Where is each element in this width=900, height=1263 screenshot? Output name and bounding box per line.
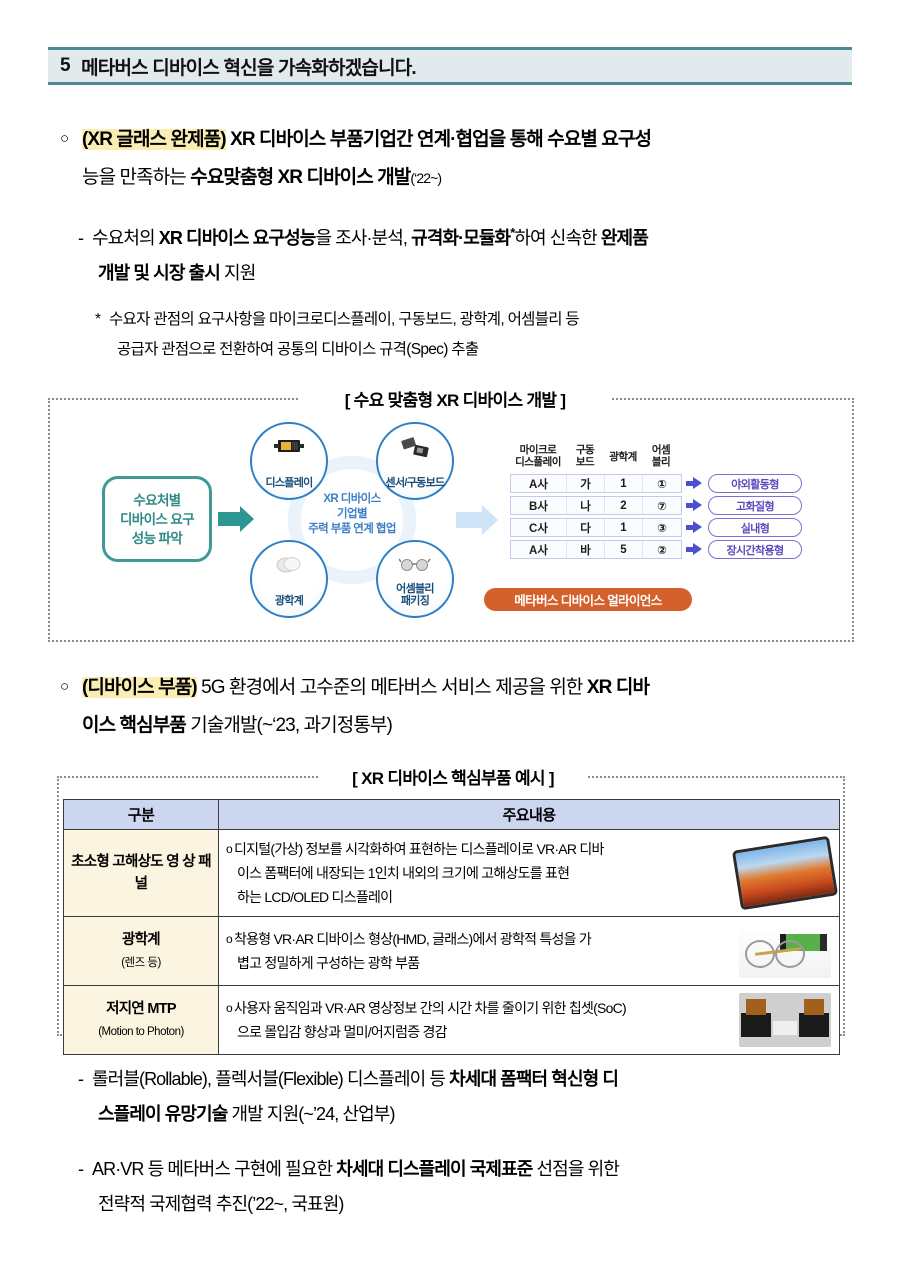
bullet-xr-glass-line1: ○(XR 글래스 완제품) XR 디바이스 부품기업간 연계·협업을 통해 수요… [60,120,860,159]
matrix-arrow-head [693,543,702,555]
matrix-header-2: 광학계 [604,451,642,463]
content-line-1: 디지털(가상) 정보를 시각화하여 표현하는 디스플레이로 VR·AR 디바 [234,841,604,857]
footnote-marker: * [95,305,109,335]
dash-rollable-a: 롤러블(Rollable), 플렉서블(Flexible) 디스플레이 등 [92,1069,449,1089]
alliance-banner: 메타버스 디바이스 얼라이언스 [484,588,692,611]
table-cell-category-sub: (렌즈 등) [70,952,212,974]
matrix-row-0: A사 가 1 ① [510,474,682,493]
matrix-cell: 2 [605,497,643,514]
content-marker: o [226,932,232,946]
table-cell-category: 초소형 고해상도 영 상 패널 [64,830,219,917]
dash-rollable-line2: 스플레이 유망기술 개발 지원(~’24, 산업부) [78,1097,868,1132]
footnote-block: *수요자 관점의 요구사항을 마이크로디스플레이, 구동보드, 광학계, 어셈블… [95,305,865,365]
content-line-2: 이스 폼팩터에 내장되는 1인치 내외의 크기에 고해상도를 표현 [237,865,569,881]
bullet-marker-circle: ○ [60,668,82,706]
content-line-3: 하는 LCD/OLED 디스플레이 [237,889,392,905]
sensor-board-icon [378,437,452,464]
matrix-cell: ⑦ [643,497,681,514]
dash-demand-bold2: 규격화·모듈화 [411,228,510,248]
bullet-xr-glass-label: (XR 글래스 완제품) [82,129,226,150]
figure1-node-display: 디스플레이 [250,422,328,500]
bullet-device-parts-text1: 5G 환경에서 고수준의 메타버스 서비스 제공을 위한 [197,677,587,698]
table-row: 광학계 (렌즈 등) o착용형 VR·AR 디바이스 형상(HMD, 글래스)에… [64,917,840,986]
bullet-device-parts-line2-bold: 이스 핵심부품 [82,715,186,736]
figure1-teal-arrow-head [240,506,254,532]
bullet-device-parts-line1: ○(디바이스 부품) 5G 환경에서 고수준의 메타버스 서비스 제공을 위한 … [60,668,860,707]
bullet-xr-glass-line2-a: 능을 만족하는 [82,167,190,188]
figure1-node-sensor-label: 센서/구동보드 [386,477,445,489]
dash-marker: - [78,1152,92,1187]
table-cell-content: o디지털(가상) 정보를 시각화하여 표현하는 디스플레이로 VR·AR 디바 … [219,830,840,917]
lens-icon [252,555,326,580]
dash-rollable-block: -롤러블(Rollable), 플렉서블(Flexible) 디스플레이 등 차… [78,1062,868,1132]
matrix-cell: C사 [511,519,567,536]
content-line-1: 사용자 움직임과 VR·AR 영상정보 간의 시간 차를 줄이기 위한 칩셋(S… [234,1000,626,1016]
matrix-header-0-l1: 마이크로 [520,444,557,456]
matrix-arrow-head [693,521,702,533]
table-row: 초소형 고해상도 영 상 패널 o디지털(가상) 정보를 시각화하여 표현하는 … [64,830,840,917]
footnote-line2: 공급자 관점으로 전환하여 공통의 디바이스 규격(Spec) 추출 [95,335,865,365]
matrix-header-3: 어셈 블리 [642,444,680,468]
figure1-node-assembly-l1: 어셈블리 [396,583,434,595]
figure1-input-line3: 성능 파악 [132,531,182,546]
footnote-line1: *수요자 관점의 요구사항을 마이크로디스플레이, 구동보드, 광학계, 어셈블… [95,305,865,335]
figure1-center-line2: 기업별 [337,508,367,520]
figure1-node-display-label: 디스플레이 [265,477,312,489]
matrix-header-0-l2: 디스플레이 [515,456,561,468]
section-title: 메타버스 디바이스 혁신을 가속화하겠습니다. [81,53,416,80]
matrix-header-2-l1: 광학계 [609,451,636,463]
table-col-header-content: 주요내용 [219,800,840,830]
table-cell-category: 광학계 (렌즈 등) [64,917,219,986]
bullet-xr-glass-line2-year: (‘22~) [410,170,441,186]
matrix-cell: ③ [643,519,681,536]
dash-standard-line1: -AR·VR 등 메타버스 구현에 필요한 차세대 디스플레이 국제표준 선점을… [78,1152,868,1187]
result-pill-indoor: 실내형 [708,518,802,537]
dash-rollable-bold: 차세대 폼팩터 혁신형 디 [449,1069,618,1089]
result-pill-highquality: 고화질형 [708,496,802,515]
core-components-table: 구분 주요내용 초소형 고해상도 영 상 패널 o디지털(가상) 정보를 시각화… [63,799,840,1055]
matrix-cell: B사 [511,497,567,514]
matrix-row-2: C사 다 1 ③ [510,518,682,537]
figure1-flow-arrow-head [482,505,498,535]
table-cell-category: 저지연 MTP (Motion to Photon) [64,986,219,1055]
dash-demand-line2-c: 지원 [220,263,255,283]
bullet-xr-glass-line2: 능을 만족하는 수요맞춤형 XR 디바이스 개발(‘22~) [60,159,860,197]
bullet-xr-glass-text1: XR 디바이스 부품기업간 연계·협업을 통해 수요별 요구성 [226,129,651,150]
matrix-arrow-stem [686,503,693,508]
figure1-node-assembly: 어셈블리 패키징 [376,540,454,618]
figure1-node-optics-label: 광학계 [275,595,303,607]
figure1-flow-arrow-body [456,512,482,528]
matrix-cell: 1 [605,519,643,536]
figure1-frame: 수요처별 디바이스 요구 성능 파악 XR 디바이스 기업별 주력 부품 연계 … [48,398,854,642]
matrix-header-3-l1: 어셈 [652,444,670,456]
table-cell-content: o사용자 움직임과 VR·AR 영상정보 간의 시간 차를 줄이기 위한 칩셋(… [219,986,840,1055]
matrix-cell: 다 [567,519,605,536]
result-pill-longwear: 장시간착용형 [708,540,802,559]
matrix-arrow-head [693,477,702,489]
matrix-cell: ① [643,475,681,492]
content-marker: o [226,842,232,856]
dash-rollable-line2-c: 개발 지원(~’24, 산업부) [227,1104,394,1124]
dash-standard-block: -AR·VR 등 메타버스 구현에 필요한 차세대 디스플레이 국제표준 선점을… [78,1152,868,1222]
figure1-center-text: XR 디바이스 기업별 주력 부품 연계 협업 [288,492,416,537]
dash-rollable-line1: -롤러블(Rollable), 플렉서블(Flexible) 디스플레이 등 차… [78,1062,868,1097]
matrix-cell: A사 [511,475,567,492]
matrix-cell: ② [643,541,681,558]
dash-demand-a: 수요처의 [92,228,159,248]
dash-standard-a: AR·VR 등 메타버스 구현에 필요한 [92,1159,336,1179]
bullet-device-parts-bold1: XR 디바 [587,677,649,698]
bullet-device-parts-line2-c: 기술개발(~‘23, 과기정통부) [186,715,392,736]
footnote-text1: 수요자 관점의 요구사항을 마이크로디스플레이, 구동보드, 광학계, 어셈블리… [109,311,579,328]
figure1-caption: [ 수요 맞춤형 XR 디바이스 개발 ] [300,386,610,411]
bullet-device-parts-line2: 이스 핵심부품 기술개발(~‘23, 과기정통부) [60,707,860,745]
figure1-node-assembly-label: 어셈블리 패키징 [396,583,434,607]
bullet-device-parts-label: (디바이스 부품) [82,677,197,698]
matrix-arrow-stem [686,547,693,552]
matrix-header-1: 구동 보드 [566,444,604,468]
dash-demand-line2-bold: 개발 및 시장 출시 [98,263,220,283]
dash-marker: - [78,1062,92,1097]
content-line-1: 착용형 VR·AR 디바이스 형상(HMD, 글래스)에서 광학적 특성을 가 [234,931,591,947]
table-header-row: 구분 주요내용 [64,800,840,830]
figure1-node-optics: 광학계 [250,540,328,618]
matrix-header-0: 마이크로 디스플레이 [510,444,566,468]
dash-demand-line1: -수요처의 XR 디바이스 요구성능을 조사·분석, 규격화·모듈화*하여 신속… [78,215,868,256]
content-line-2: 으로 몰입감 향상과 멀미/어지럼증 경감 [237,1024,447,1040]
dash-demand-c: 하여 신속한 [514,228,601,248]
dash-standard-bold: 차세대 디스플레이 국제표준 [336,1159,532,1179]
ar-glasses-thumbnail [739,924,831,978]
dash-demand-bold1: XR 디바이스 요구성능 [159,228,316,248]
table-col-header-category: 구분 [64,800,219,830]
document-page: 5 메타버스 디바이스 혁신을 가속화하겠습니다. ○(XR 글래스 완제품) … [0,0,900,1263]
matrix-cell: 5 [605,541,643,558]
dash-demand-bold3: 완제품 [601,228,648,248]
dash-demand-b: 을 조사·분석, [315,228,411,248]
micro-display-thumbnail [735,839,834,907]
table-row: 저지연 MTP (Motion to Photon) o사용자 움직임과 VR·… [64,986,840,1055]
dash-standard-line2: 전략적 국제협력 추진(’22~, 국표원) [78,1187,868,1222]
dash-rollable-line2-bold: 스플레이 유망기술 [98,1104,227,1124]
matrix-arrow-head [693,499,702,511]
section-header: 5 메타버스 디바이스 혁신을 가속화하겠습니다. [48,47,852,85]
figure1-input-line1: 수요처별 [133,493,180,508]
figure1-teal-arrow-body [218,512,240,526]
table-cell-category-main: 광학계 [122,932,160,948]
matrix-row-1: B사 나 2 ⑦ [510,496,682,515]
matrix-header-1-l2: 보드 [576,456,594,468]
dash-standard-c: 선점을 위한 [532,1159,619,1179]
soc-chip-thumbnail [739,993,831,1047]
matrix-header-3-l2: 블리 [652,456,670,468]
table-cell-category-main: 저지연 MTP [106,1001,176,1017]
glasses-icon [378,555,452,577]
dash-demand-line2: 개발 및 시장 출시 지원 [78,256,868,291]
figure1-input-line2: 디바이스 요구 [120,512,194,527]
figure1-input-box: 수요처별 디바이스 요구 성능 파악 [102,476,212,562]
figure1-node-assembly-l2: 패키징 [401,595,429,607]
dash-marker: - [78,221,92,256]
matrix-arrow-stem [686,481,693,486]
display-chip-icon [252,437,326,460]
bullet-xr-glass-line2-bold: 수요맞춤형 XR 디바이스 개발 [190,167,410,188]
table-cell-content: o착용형 VR·AR 디바이스 형상(HMD, 글래스)에서 광학적 특성을 가… [219,917,840,986]
matrix-cell: A사 [511,541,567,558]
matrix-cell: 나 [567,497,605,514]
matrix-cell: 1 [605,475,643,492]
matrix-cell: 가 [567,475,605,492]
bullet-xr-glass-block: ○(XR 글래스 완제품) XR 디바이스 부품기업간 연계·협업을 통해 수요… [60,120,860,197]
footnote-text2: 공급자 관점으로 전환하여 공통의 디바이스 규격(Spec) 추출 [117,341,478,358]
section-number: 5 [60,55,70,77]
result-pill-outdoor: 야외활동형 [708,474,802,493]
dash-demand-analysis-block: -수요처의 XR 디바이스 요구성능을 조사·분석, 규격화·모듈화*하여 신속… [78,215,868,291]
figure1-node-sensor: 센서/구동보드 [376,422,454,500]
figure2-caption: [ XR 디바이스 핵심부품 예시 ] [320,764,586,789]
bullet-device-parts-block: ○(디바이스 부품) 5G 환경에서 고수준의 메타버스 서비스 제공을 위한 … [60,668,860,745]
figure1-center-line1: XR 디바이스 [323,493,380,505]
figure1-center-line3: 주력 부품 연계 협업 [308,523,396,535]
matrix-header-1-l1: 구동 [576,444,594,456]
content-line-2: 볍고 정밀하게 구성하는 광학 부품 [237,955,419,971]
matrix-arrow-stem [686,525,693,530]
matrix-row-3: A사 바 5 ② [510,540,682,559]
table-cell-category-sub: (Motion to Photon) [70,1021,212,1043]
content-marker: o [226,1001,232,1015]
bullet-marker-circle: ○ [60,120,82,158]
dash-standard-line2-text: 전략적 국제협력 추진(’22~, 국표원) [98,1194,343,1214]
matrix-cell: 바 [567,541,605,558]
